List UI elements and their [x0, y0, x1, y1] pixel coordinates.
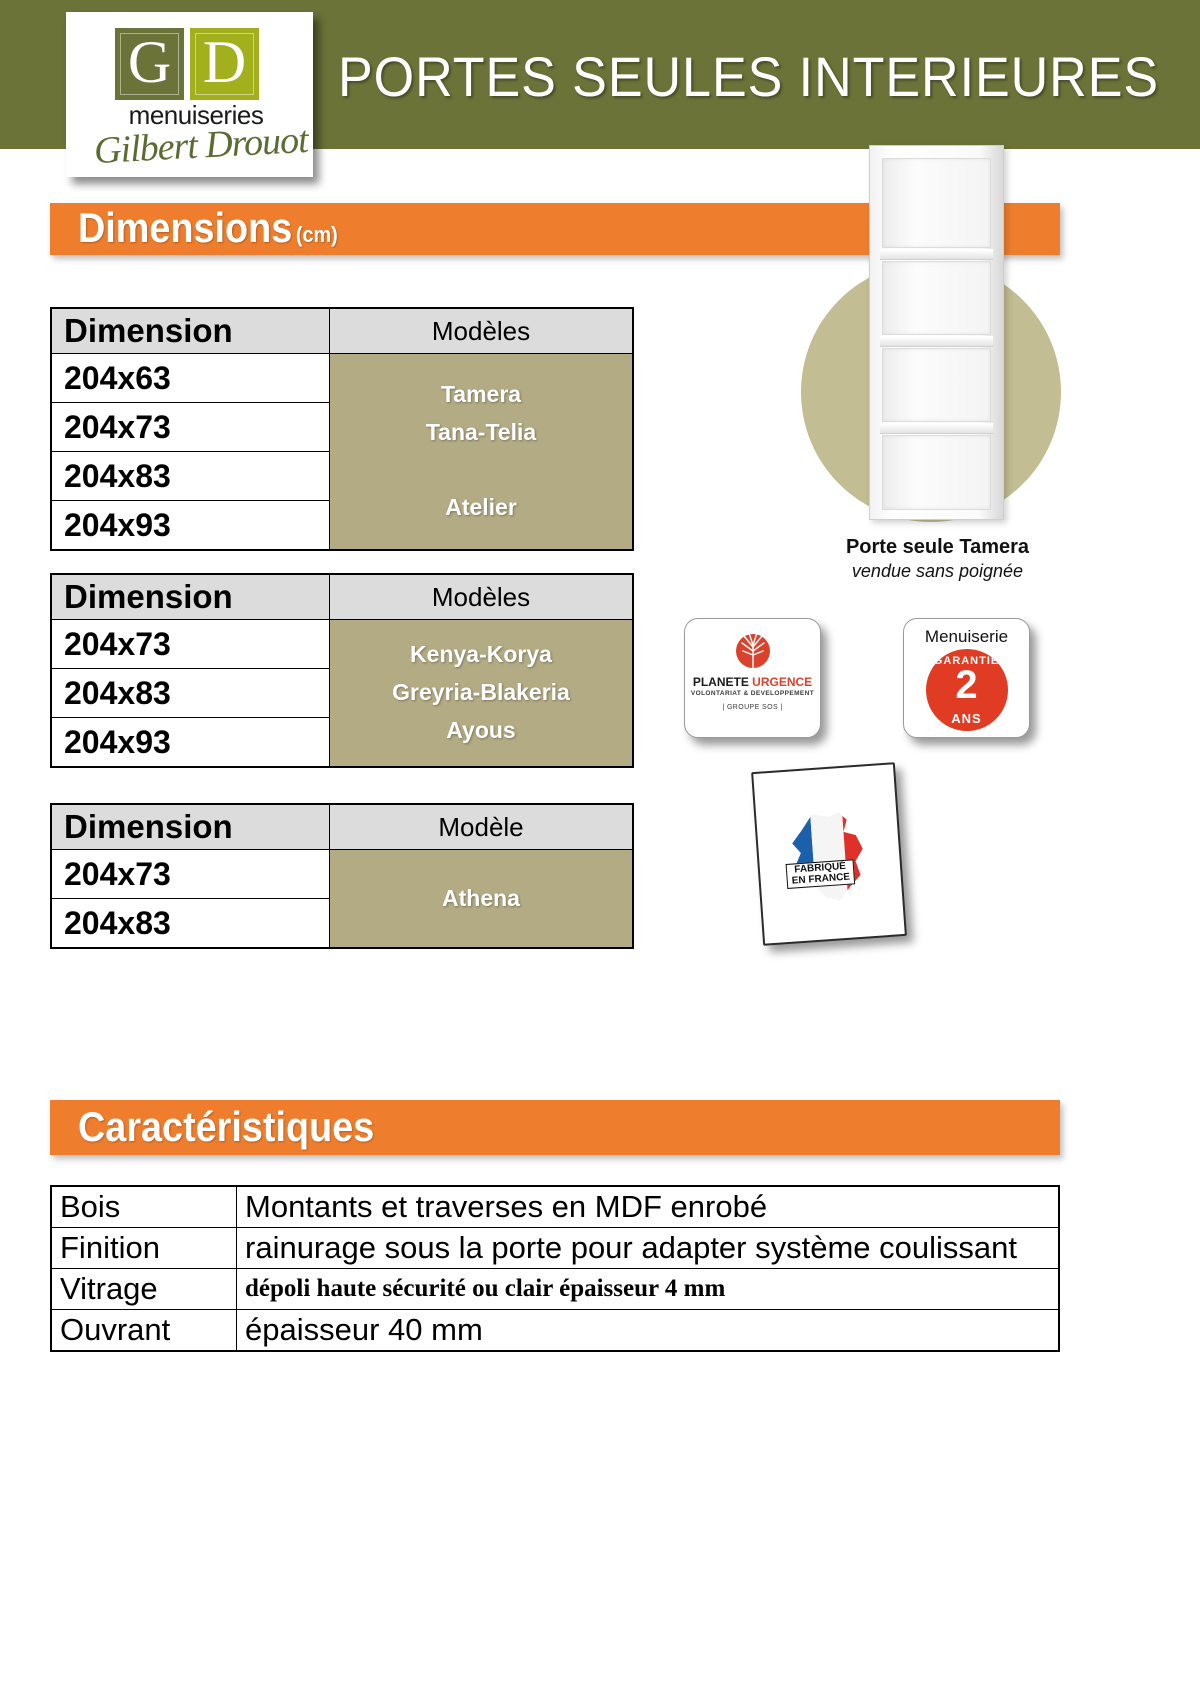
col-header-models: Modèles [330, 308, 634, 354]
caract-value: épaisseur 40 mm [237, 1310, 1060, 1352]
logo-square-d: D [190, 28, 259, 100]
badge-garantie-word: Menuiserie [904, 627, 1029, 647]
door-subcaption: vendue sans poignée [760, 561, 1115, 582]
door-rail-2 [880, 336, 993, 347]
caract-label: Ouvrant [51, 1310, 237, 1352]
table-row: Finition rainurage sous la porte pour ad… [51, 1228, 1059, 1269]
table-row: Ouvrant épaisseur 40 mm [51, 1310, 1059, 1352]
table-header-row: Dimension Modèles [51, 574, 633, 620]
table-header-row: Dimension Modèles [51, 308, 633, 354]
caract-value: dépoli haute sécurité ou clair épaisseur… [237, 1269, 1060, 1310]
table-row: 204x63 Tamera Tana-Telia Atelier [51, 354, 633, 403]
caracteristiques-label: Caractéristiques [78, 1103, 374, 1151]
page-title: PORTES SEULES INTERIEURES [338, 44, 1159, 109]
badge-fabrique-line2: EN FRANCE [791, 872, 850, 887]
caract-label: Vitrage [51, 1269, 237, 1310]
dimensions-label: Dimensions [78, 204, 292, 251]
badge-planete-title: PLANETE URGENCE [685, 675, 820, 689]
door-rail-1 [880, 249, 993, 260]
tree-icon [730, 629, 776, 669]
badge-fabrique-label: FABRIQUÉ EN FRANCE [786, 859, 856, 889]
table-row: Vitrage dépoli haute sécurité ou clair é… [51, 1269, 1059, 1310]
dimension-table-2: Dimension Modèles 204x73 Kenya-Korya Gre… [50, 573, 634, 768]
door-rail-3 [880, 423, 993, 434]
dimension-value: 204x73 [51, 620, 330, 669]
dimension-value: 204x73 [51, 403, 330, 452]
table-row: 204x73 Athena [51, 850, 633, 899]
badge-planete-title-accent: URGENCE [752, 675, 812, 689]
door-caption: Porte seule Tamera [760, 536, 1115, 559]
door-frame [869, 145, 1004, 520]
dimension-value: 204x83 [51, 669, 330, 718]
badge-fabrique-en-france: FABRIQUÉ EN FRANCE [751, 762, 907, 946]
door-panel-4 [882, 435, 991, 510]
dimension-table-3: Dimension Modèle 204x73 Athena 204x83 [50, 803, 634, 949]
model-value: Athena [330, 850, 634, 949]
models-value: Kenya-Korya Greyria-Blakeria Ayous [330, 620, 634, 768]
logo-square-g: G [115, 28, 184, 100]
badge-garantie-2-ans: Menuiserie GARANTIE 2 ANS [903, 618, 1030, 738]
dimension-value: 204x83 [51, 899, 330, 949]
dimension-value: 204x73 [51, 850, 330, 899]
door-panel-3 [882, 348, 991, 422]
caract-label: Bois [51, 1186, 237, 1228]
badge-planete-urgence: PLANETE URGENCE VOLONTARIAT & DEVELOPPEM… [684, 618, 821, 738]
dimension-value: 204x93 [51, 718, 330, 768]
dimension-table-1: Dimension Modèles 204x63 Tamera Tana-Tel… [50, 307, 634, 551]
caract-value: rainurage sous la porte pour adapter sys… [237, 1228, 1060, 1269]
col-header-models: Modèles [330, 574, 634, 620]
logo-letter-d: D [203, 32, 246, 92]
section-banner-dimensions-label: Dimensions(cm) [78, 204, 338, 252]
badge-planete-title-main: PLANETE [693, 675, 752, 689]
table-row: 204x73 Kenya-Korya Greyria-Blakeria Ayou… [51, 620, 633, 669]
door-product-image [869, 145, 1004, 520]
col-header-dimension: Dimension [51, 574, 330, 620]
badge-planete-subtitle: VOLONTARIAT & DEVELOPPEMENT [685, 690, 820, 697]
france-map-icon [776, 804, 883, 911]
caract-value: Montants et traverses en MDF enrobé [237, 1186, 1060, 1228]
logo-signature-text: Gilbert Drouot [93, 119, 290, 173]
logo-letter-g: G [128, 32, 171, 92]
company-logo: G D menuiseries Gilbert Drouot [66, 12, 313, 177]
badge-planete-group: | GROUPE SOS | [685, 704, 820, 711]
table-row: Bois Montants et traverses en MDF enrobé [51, 1186, 1059, 1228]
col-header-dimension: Dimension [51, 308, 330, 354]
dimension-value: 204x83 [51, 452, 330, 501]
logo-gd-monogram: G D [115, 28, 265, 100]
dimension-value: 204x93 [51, 501, 330, 551]
section-banner-caracteristiques: Caractéristiques [50, 1100, 1060, 1155]
dimensions-unit: (cm) [296, 222, 338, 247]
col-header-dimension: Dimension [51, 804, 330, 850]
dimension-value: 204x63 [51, 354, 330, 403]
door-panel-1 [882, 158, 991, 248]
col-header-model: Modèle [330, 804, 634, 850]
caract-label: Finition [51, 1228, 237, 1269]
caracteristiques-table: Bois Montants et traverses en MDF enrobé… [50, 1185, 1060, 1352]
badge-garantie-disc: GARANTIE 2 ANS [926, 649, 1008, 731]
badge-garantie-number: 2 [926, 665, 1008, 705]
table-header-row: Dimension Modèle [51, 804, 633, 850]
models-value: Tamera Tana-Telia Atelier [330, 354, 634, 551]
door-panel-2 [882, 261, 991, 335]
badge-garantie-unit: ANS [926, 711, 1008, 726]
